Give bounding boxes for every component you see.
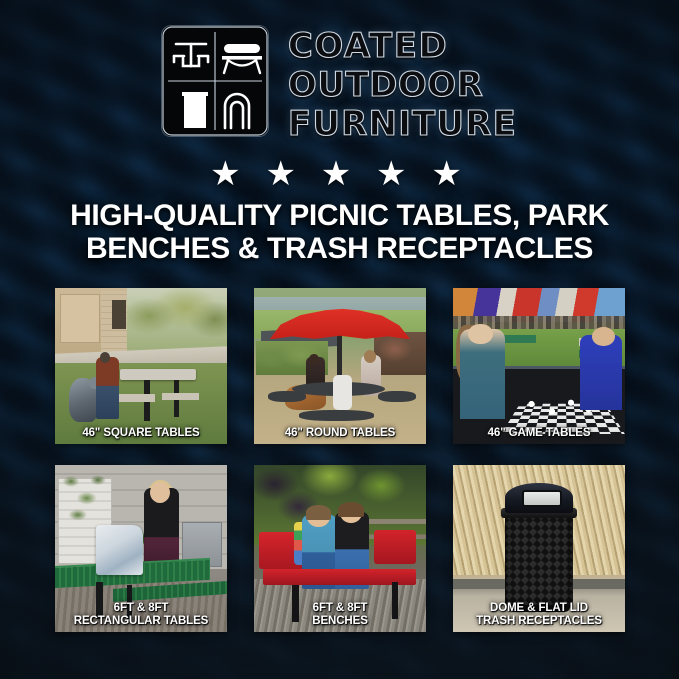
product-tile-game-tables[interactable]: 46" GAME TABLES bbox=[453, 288, 625, 444]
product-photo bbox=[254, 288, 426, 444]
product-tile-trash-receptacles[interactable]: DOME & FLAT LID TRASH RECEPTACLES bbox=[453, 465, 625, 632]
product-caption: DOME & FLAT LID TRASH RECEPTACLES bbox=[453, 602, 625, 627]
brand-wordmark: COATED OUTDOOR FURNITURE bbox=[288, 26, 517, 143]
product-photo bbox=[55, 288, 227, 444]
caption-line1: 46" GAME TABLES bbox=[488, 427, 591, 439]
product-caption: 46" SQUARE TABLES bbox=[55, 427, 227, 440]
product-grid: 46" SQUARE TABLES bbox=[55, 288, 625, 632]
caption-line1: 6FT & 8FT bbox=[313, 602, 368, 614]
product-caption: 46" ROUND TABLES bbox=[254, 427, 426, 440]
caption-line2: RECTANGULAR TABLES bbox=[58, 615, 224, 628]
caption-line1: 46" ROUND TABLES bbox=[285, 427, 395, 439]
promotional-banner: COATED OUTDOOR FURNITURE ★ ★ ★ ★ ★ HIGH-… bbox=[0, 0, 679, 679]
product-tile-benches[interactable]: 6FT & 8FT BENCHES bbox=[254, 465, 426, 632]
five-star-rating: ★ ★ ★ ★ ★ bbox=[0, 157, 679, 191]
brand-logo: COATED OUTDOOR FURNITURE bbox=[0, 26, 679, 143]
headline-line2: BENCHES & TRASH RECEPTACLES bbox=[36, 232, 643, 265]
banner-content: COATED OUTDOOR FURNITURE ★ ★ ★ ★ ★ HIGH-… bbox=[0, 0, 679, 679]
product-caption: 46" GAME TABLES bbox=[453, 427, 625, 440]
caption-line1: DOME & FLAT LID bbox=[490, 602, 588, 614]
caption-line1: 46" SQUARE TABLES bbox=[82, 427, 199, 439]
caption-line2: BENCHES bbox=[257, 615, 423, 628]
product-caption: 6FT & 8FT RECTANGULAR TABLES bbox=[55, 602, 227, 627]
brand-name-line1: COATED bbox=[288, 27, 517, 65]
page-title: HIGH-QUALITY PICNIC TABLES, PARK BENCHES… bbox=[0, 199, 679, 265]
product-tile-rectangular-tables[interactable]: 6FT & 8FT RECTANGULAR TABLES bbox=[55, 465, 227, 632]
product-tile-square-tables[interactable]: 46" SQUARE TABLES bbox=[55, 288, 227, 444]
caption-line1: 6FT & 8FT bbox=[114, 602, 169, 614]
headline-line1: HIGH-QUALITY PICNIC TABLES, PARK bbox=[70, 199, 609, 232]
logo-mark-icon bbox=[162, 26, 268, 136]
brand-name-line3: FURNITURE bbox=[288, 105, 517, 143]
caption-line2: TRASH RECEPTACLES bbox=[456, 615, 622, 628]
brand-name-line2: OUTDOOR bbox=[288, 66, 517, 104]
product-photo bbox=[453, 288, 625, 444]
product-tile-round-tables[interactable]: 46" ROUND TABLES bbox=[254, 288, 426, 444]
product-caption: 6FT & 8FT BENCHES bbox=[254, 602, 426, 627]
